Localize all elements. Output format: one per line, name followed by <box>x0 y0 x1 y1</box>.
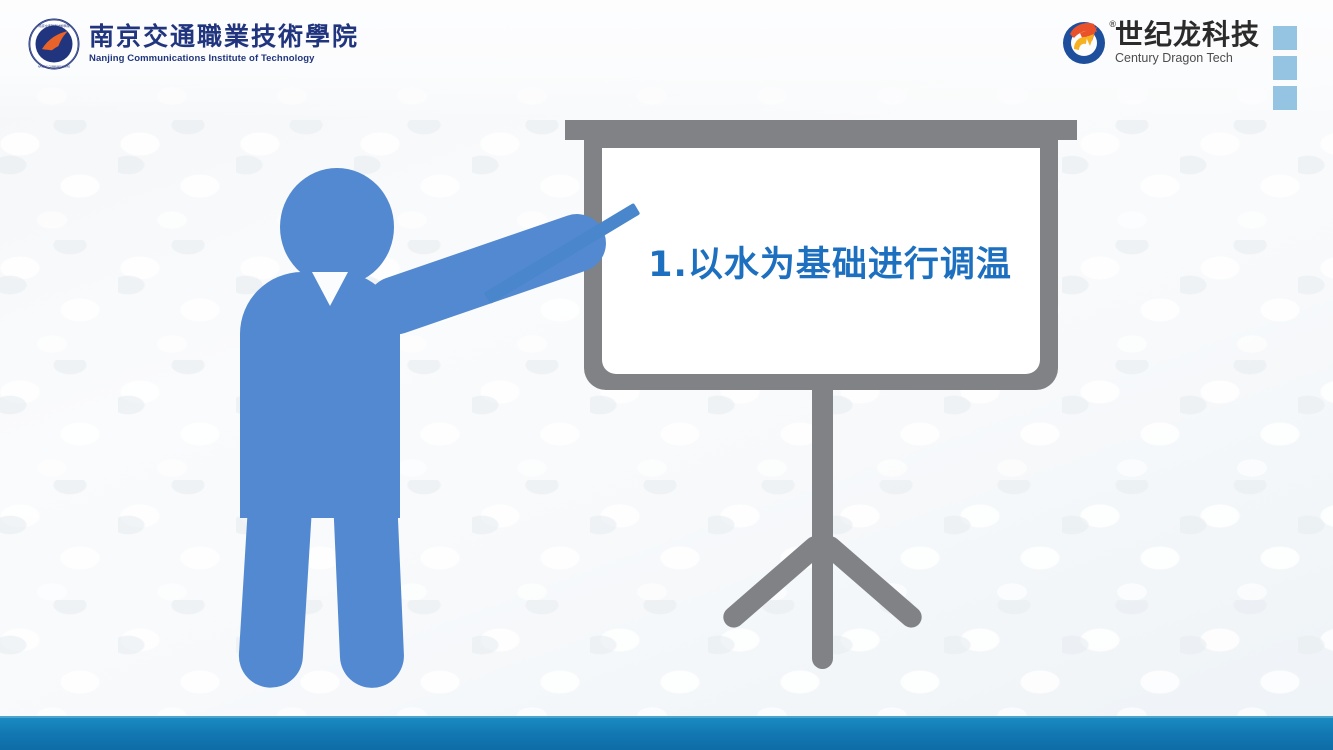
school-logo-text: 南京交通職業技術學院 Nanjing Communications Instit… <box>89 24 359 64</box>
company-logo-text: 世纪龙科技 Century Dragon Tech <box>1115 21 1260 65</box>
presenter-silhouette <box>228 168 548 688</box>
page-title: 1.以水为基础进行调温 <box>602 148 1040 374</box>
decor-square-2 <box>1273 56 1297 80</box>
company-name-cn: 世纪龙科技 <box>1115 21 1260 49</box>
decor-square-1 <box>1273 26 1297 50</box>
easel-whiteboard: 1.以水为基础进行调温 <box>565 120 1077 390</box>
board-top-rail <box>565 120 1077 140</box>
registered-trademark-icon: ® <box>1109 19 1116 29</box>
presenter-leg-right <box>332 473 405 690</box>
decor-square-stack <box>1273 26 1297 110</box>
school-name-en: Nanjing Communications Institute of Tech… <box>89 54 359 64</box>
njcit-emblem-icon: 南京交通職業技術學院 NANJING COMMUNICATIONS <box>28 18 80 70</box>
footer-bar <box>0 716 1333 750</box>
slide-canvas: 南京交通職業技術學院 NANJING COMMUNICATIONS 南京交通職業… <box>0 0 1333 750</box>
school-name-cn: 南京交通職業技術學院 <box>89 24 359 49</box>
presenter-head <box>280 168 394 286</box>
company-name-en: Century Dragon Tech <box>1115 52 1260 65</box>
decor-square-3 <box>1273 86 1297 110</box>
svg-text:南京交通職業技術學院: 南京交通職業技術學院 <box>39 23 70 28</box>
easel-center-foot <box>812 545 833 669</box>
company-logo: ® 世纪龙科技 Century Dragon Tech <box>1061 20 1260 66</box>
century-dragon-mark-icon: ® <box>1061 20 1107 66</box>
school-logo: 南京交通職業技術學院 NANJING COMMUNICATIONS 南京交通職業… <box>28 18 359 70</box>
presenter-leg-left <box>237 472 314 690</box>
svg-text:NANJING COMMUNICATIONS: NANJING COMMUNICATIONS <box>38 66 71 69</box>
